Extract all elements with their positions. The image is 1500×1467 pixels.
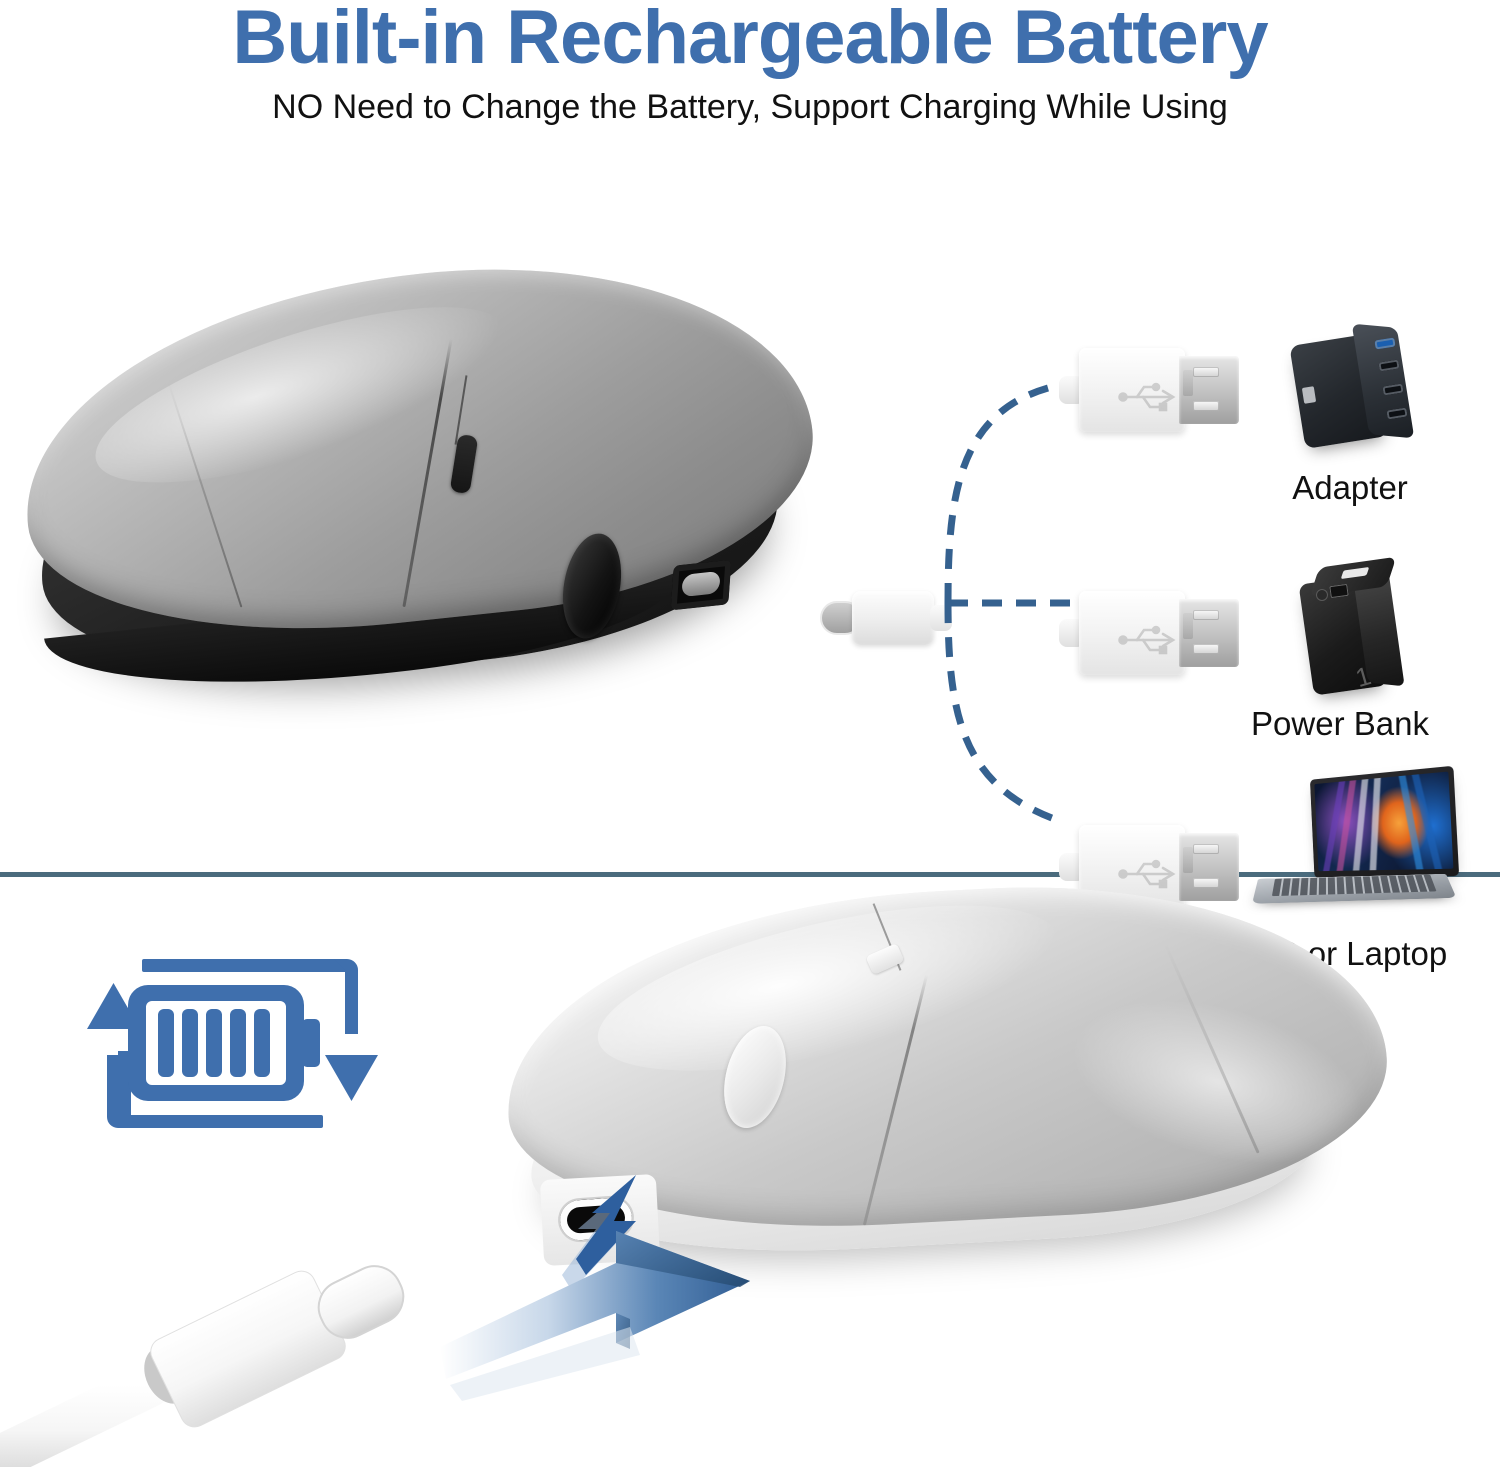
- mouse-product-top: [8, 245, 828, 695]
- wall-adapter-icon: [1297, 323, 1423, 451]
- power-bank-icon: 10: [1302, 557, 1422, 697]
- page-title: Built-in Rechargeable Battery: [0, 0, 1500, 81]
- power-bank-display: [1329, 584, 1348, 598]
- mouse-bottom-gloss-rear: [1053, 971, 1382, 1194]
- page-subtitle: NO Need to Change the Battery, Support C…: [0, 88, 1500, 127]
- usb-logo-icon: [1117, 621, 1183, 659]
- usb-a-tongue: [1183, 613, 1193, 639]
- adapter-wall-prong: [1302, 386, 1316, 404]
- usb-a-body: [1079, 591, 1185, 675]
- bottom-panel: [0, 877, 1500, 1464]
- usb-logo-icon: [1117, 378, 1183, 416]
- device-label-adapter: Adapter: [1200, 469, 1500, 507]
- power-bank-button: [1316, 589, 1328, 601]
- device-label-power-bank: Power Bank: [1190, 705, 1490, 743]
- usb-a-tongue: [1183, 847, 1193, 873]
- header-banner: Built-in Rechargeable Battery NO Need to…: [0, 0, 1500, 145]
- mouse-bottom-gloss-top: [584, 872, 1071, 1104]
- usb-a-tongue: [1183, 370, 1193, 396]
- laptop-screen: [1314, 772, 1453, 872]
- rechargeable-battery-cycle-icon: [78, 937, 418, 1177]
- usb-a-connector-adapter: [1059, 340, 1239, 440]
- usb-a-connector-powerbank: [1059, 583, 1239, 683]
- usb-a-body: [1079, 348, 1185, 432]
- laptop-lid: [1310, 766, 1459, 878]
- top-panel: Adapter 10 Power Bank PC or Laptop: [0, 145, 1500, 872]
- flow-arrow-icon: [440, 1215, 770, 1415]
